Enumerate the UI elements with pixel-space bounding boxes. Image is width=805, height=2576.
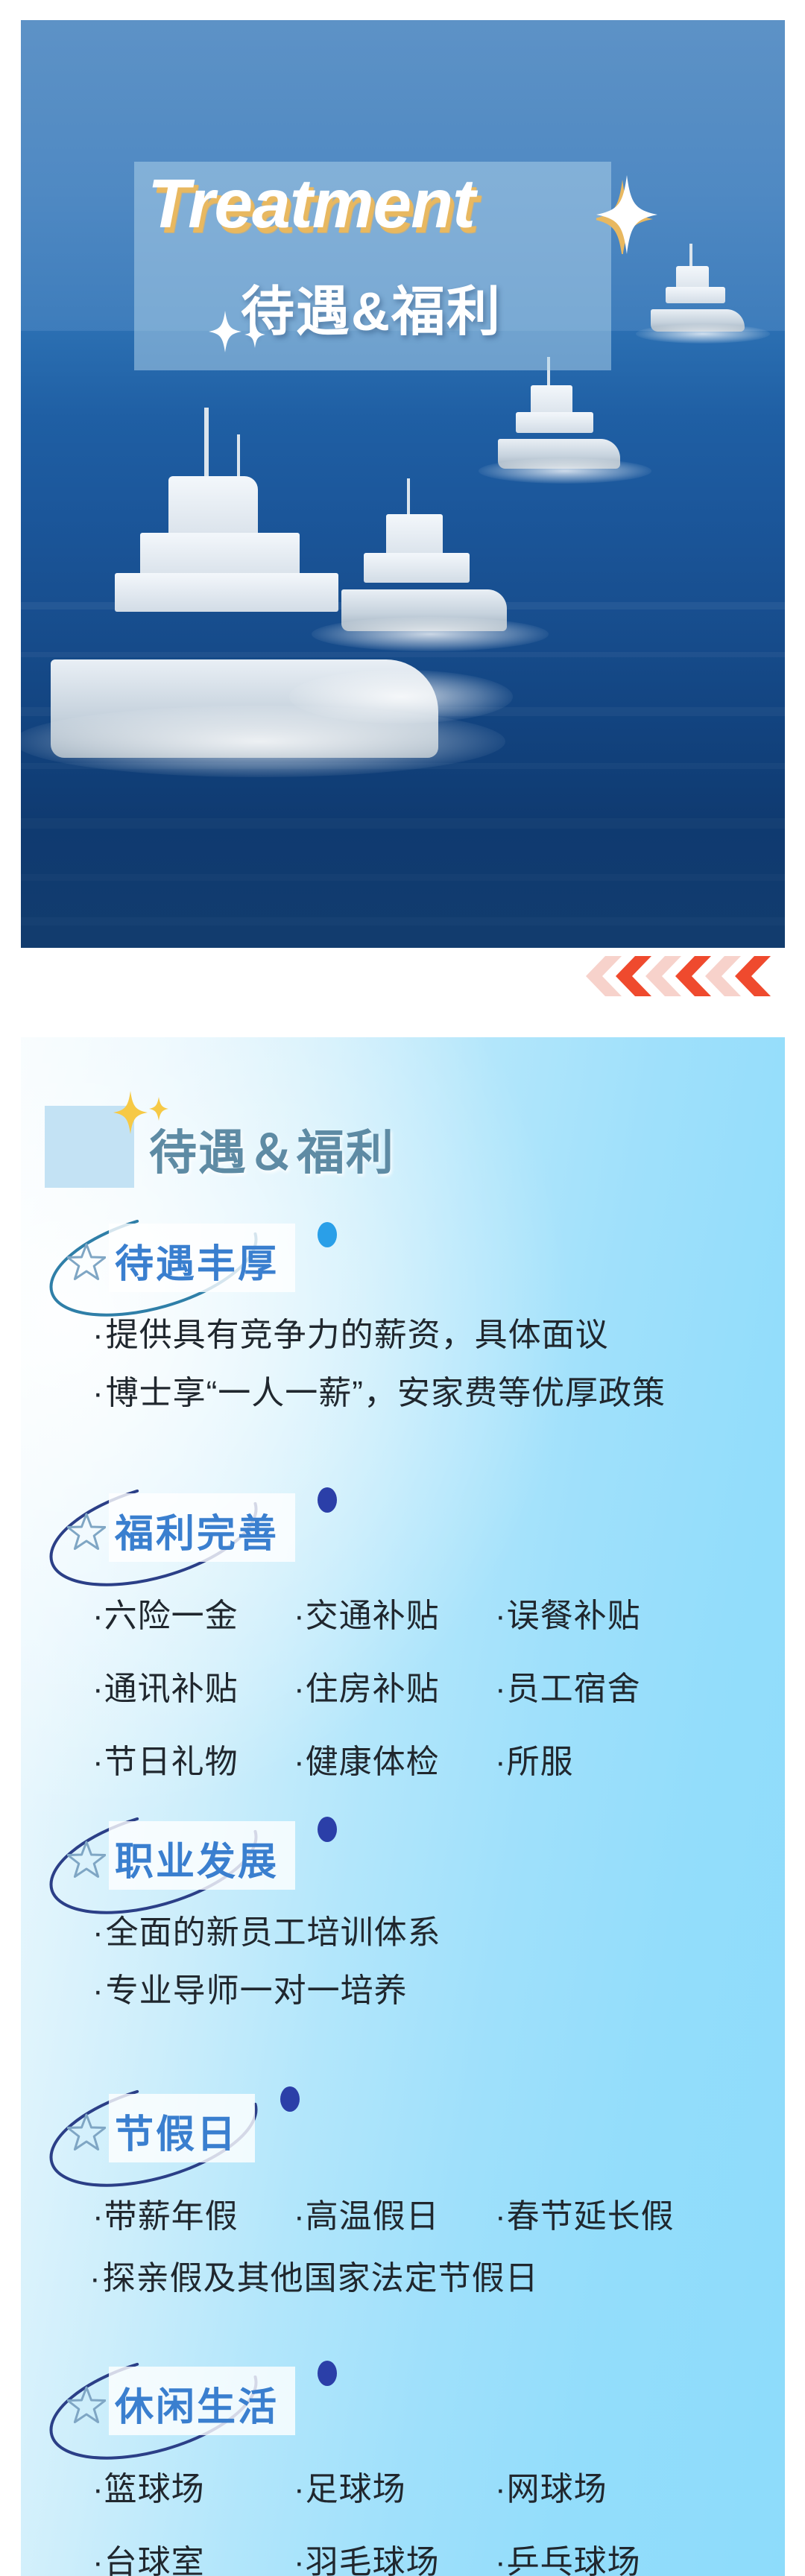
hero-title-cn: 待遇&福利 xyxy=(241,268,502,346)
hero-title-en: Treatment xyxy=(148,164,475,244)
section-career: 职业发展 ·全面的新员工培训体系 ·专业导师一对一培养 xyxy=(21,1805,785,2033)
section-dot xyxy=(318,1487,337,1513)
star-outline-icon xyxy=(67,2113,106,2151)
list-item-text: 节日礼物 xyxy=(104,1744,239,1780)
star-outline-icon xyxy=(67,1243,106,1280)
list-item-text: 篮球场 xyxy=(104,2471,205,2507)
list-row: ·六险一金 ·交通补贴 ·误餐补贴 xyxy=(92,1589,785,1636)
section-label: 职业发展 xyxy=(115,1830,279,1886)
list-row: ·篮球场 ·足球场 ·网球场 xyxy=(92,2462,785,2510)
section-leisure: 休闲生活 ·篮球场 ·足球场 ·网球场 ·台球室 ·羽毛球场 ·乒乓球场 xyxy=(21,2350,785,2576)
recruitment-poster: Treatment 待遇&福利 xyxy=(0,0,805,2576)
list-item: ·所服 xyxy=(495,1735,574,1782)
list-item: ·带薪年假 xyxy=(92,2189,294,2237)
list-item: ·误餐补贴 xyxy=(495,1589,641,1636)
list-item: ·全面的新员工培训体系 xyxy=(92,1917,785,1949)
list-item: ·羽毛球场 xyxy=(294,2535,495,2576)
ship-far-2 xyxy=(498,357,625,469)
card-heading: 待遇＆福利 xyxy=(149,1115,395,1183)
four-point-star-icon xyxy=(596,175,657,254)
section-salary: 待遇丰厚 ·提供具有竞争力的薪资，具体面议 ·博士享“一人一薪”，安家费等优厚政… xyxy=(21,1207,785,1435)
four-point-star-icon xyxy=(113,1091,148,1134)
list-item: ·专业导师一对一培养 xyxy=(92,1975,785,2007)
list-item: ·交通补贴 xyxy=(294,1589,495,1636)
section-header: 职业发展 xyxy=(21,1805,785,1917)
list-item-text: 探亲假及其他国家法定节假日 xyxy=(103,2260,539,2297)
list-item-text: 博士享“一人一薪”，安家费等优厚政策 xyxy=(106,1375,666,1411)
bullet-dot: · xyxy=(92,1972,104,2009)
four-point-star-icon-small-2 xyxy=(244,321,265,348)
ship-foreground xyxy=(51,408,453,758)
star-outline-icon xyxy=(67,1513,106,1550)
section-benefits: 福利完善 ·六险一金 ·交通补贴 ·误餐补贴 ·通讯补贴 ·住房补贴 ·员工宿舍… xyxy=(21,1477,785,1808)
section-header: 节假日 xyxy=(21,2077,785,2189)
list-item: ·网球场 xyxy=(495,2462,607,2510)
bullet-dot: · xyxy=(89,2260,101,2297)
section-header: 休闲生活 xyxy=(21,2350,785,2462)
list-row: ·节日礼物 ·健康体检 ·所服 xyxy=(92,1735,785,1782)
list-item: ·节日礼物 xyxy=(92,1735,294,1782)
list-item-text: 足球场 xyxy=(306,2471,406,2507)
card-heading-block: 待遇＆福利 xyxy=(45,1091,522,1188)
benefits-card: 待遇＆福利 待遇丰厚 ·提供具有竞争力的薪资，具体面议 ·博士享 xyxy=(21,1037,785,2576)
list-item-text: 提供具有竞争力的薪资，具体面议 xyxy=(106,1317,609,1353)
section-dot xyxy=(318,1817,337,1842)
section-label: 节假日 xyxy=(115,2103,238,2159)
section-body: ·全面的新员工培训体系 ·专业导师一对一培养 xyxy=(21,1917,785,2007)
section-holidays: 节假日 ·带薪年假 ·高温假日 ·春节延长假 ·探亲假及其他国家法定节假日 xyxy=(21,2077,785,2320)
list-item-text: 春节延长假 xyxy=(507,2198,675,2235)
list-item: ·通讯补贴 xyxy=(92,1662,294,1709)
bullet-dot: · xyxy=(92,1317,104,1353)
section-header: 福利完善 xyxy=(21,1477,785,1589)
list-item-text: 带薪年假 xyxy=(104,2198,239,2235)
star-outline-icon xyxy=(67,1841,106,1878)
chevron-decoration xyxy=(575,955,789,998)
list-item: ·住房补贴 xyxy=(294,1662,495,1709)
list-item-text: 通讯补贴 xyxy=(104,1671,239,1707)
section-body: ·带薪年假 ·高温假日 ·春节延长假 ·探亲假及其他国家法定节假日 xyxy=(21,2189,785,2295)
list-item: ·健康体检 xyxy=(294,1735,495,1782)
section-body: ·六险一金 ·交通补贴 ·误餐补贴 ·通讯补贴 ·住房补贴 ·员工宿舍 ·节日礼… xyxy=(21,1589,785,1782)
section-label: 待遇丰厚 xyxy=(115,1232,279,1288)
list-item-text: 羽毛球场 xyxy=(306,2544,440,2576)
list-item-text: 误餐补贴 xyxy=(507,1598,641,1634)
section-dot xyxy=(318,1222,337,1247)
section-label: 福利完善 xyxy=(115,1502,279,1558)
list-item-text: 乒乓球场 xyxy=(507,2544,641,2576)
list-item-text: 员工宿舍 xyxy=(507,1671,641,1707)
list-item-text: 六险一金 xyxy=(104,1598,239,1634)
list-item-text: 交通补贴 xyxy=(306,1598,440,1634)
four-point-star-icon-small-1 xyxy=(209,311,241,352)
section-dot xyxy=(318,2361,337,2386)
list-item: ·春节延长假 xyxy=(495,2189,675,2237)
list-item-text: 台球室 xyxy=(104,2544,205,2576)
ship-far-1 xyxy=(651,244,748,332)
section-label: 休闲生活 xyxy=(115,2376,279,2431)
list-item-text: 专业导师一对一培养 xyxy=(106,1972,408,2009)
list-item: ·乒乓球场 xyxy=(495,2535,641,2576)
list-item: ·员工宿舍 xyxy=(495,1662,641,1709)
list-item: ·足球场 xyxy=(294,2462,495,2510)
list-item: ·篮球场 xyxy=(92,2462,294,2510)
list-item-text: 全面的新员工培训体系 xyxy=(106,1914,441,1951)
bullet-dot: · xyxy=(92,1375,104,1411)
list-item-text: 住房补贴 xyxy=(306,1671,440,1707)
list-item-text: 高温假日 xyxy=(306,2198,440,2235)
section-body: ·篮球场 ·足球场 ·网球场 ·台球室 ·羽毛球场 ·乒乓球场 xyxy=(21,2462,785,2576)
star-outline-icon xyxy=(67,2386,106,2423)
section-header: 待遇丰厚 xyxy=(21,1207,785,1319)
hero-banner: Treatment 待遇&福利 xyxy=(21,20,785,948)
list-item-text: 健康体检 xyxy=(306,1744,440,1780)
list-item: ·六险一金 xyxy=(92,1589,294,1636)
list-row: ·通讯补贴 ·住房补贴 ·员工宿舍 xyxy=(92,1662,785,1709)
section-body: ·提供具有竞争力的薪资，具体面议 ·博士享“一人一薪”，安家费等优厚政策 xyxy=(21,1319,785,1410)
list-item: ·提供具有竞争力的薪资，具体面议 xyxy=(92,1319,785,1352)
bullet-dot: · xyxy=(92,1914,104,1951)
list-item-text: 所服 xyxy=(507,1744,574,1780)
section-dot xyxy=(280,2086,300,2112)
list-item: ·探亲假及其他国家法定节假日 xyxy=(89,2262,785,2295)
list-item: ·台球室 xyxy=(92,2535,294,2576)
list-item-text: 网球场 xyxy=(507,2471,607,2507)
list-item: ·博士享“一人一薪”，安家费等优厚政策 xyxy=(92,1377,785,1410)
list-row: ·带薪年假 ·高温假日 ·春节延长假 xyxy=(92,2189,785,2237)
list-item: ·高温假日 xyxy=(294,2189,495,2237)
list-row: ·台球室 ·羽毛球场 ·乒乓球场 xyxy=(92,2535,785,2576)
